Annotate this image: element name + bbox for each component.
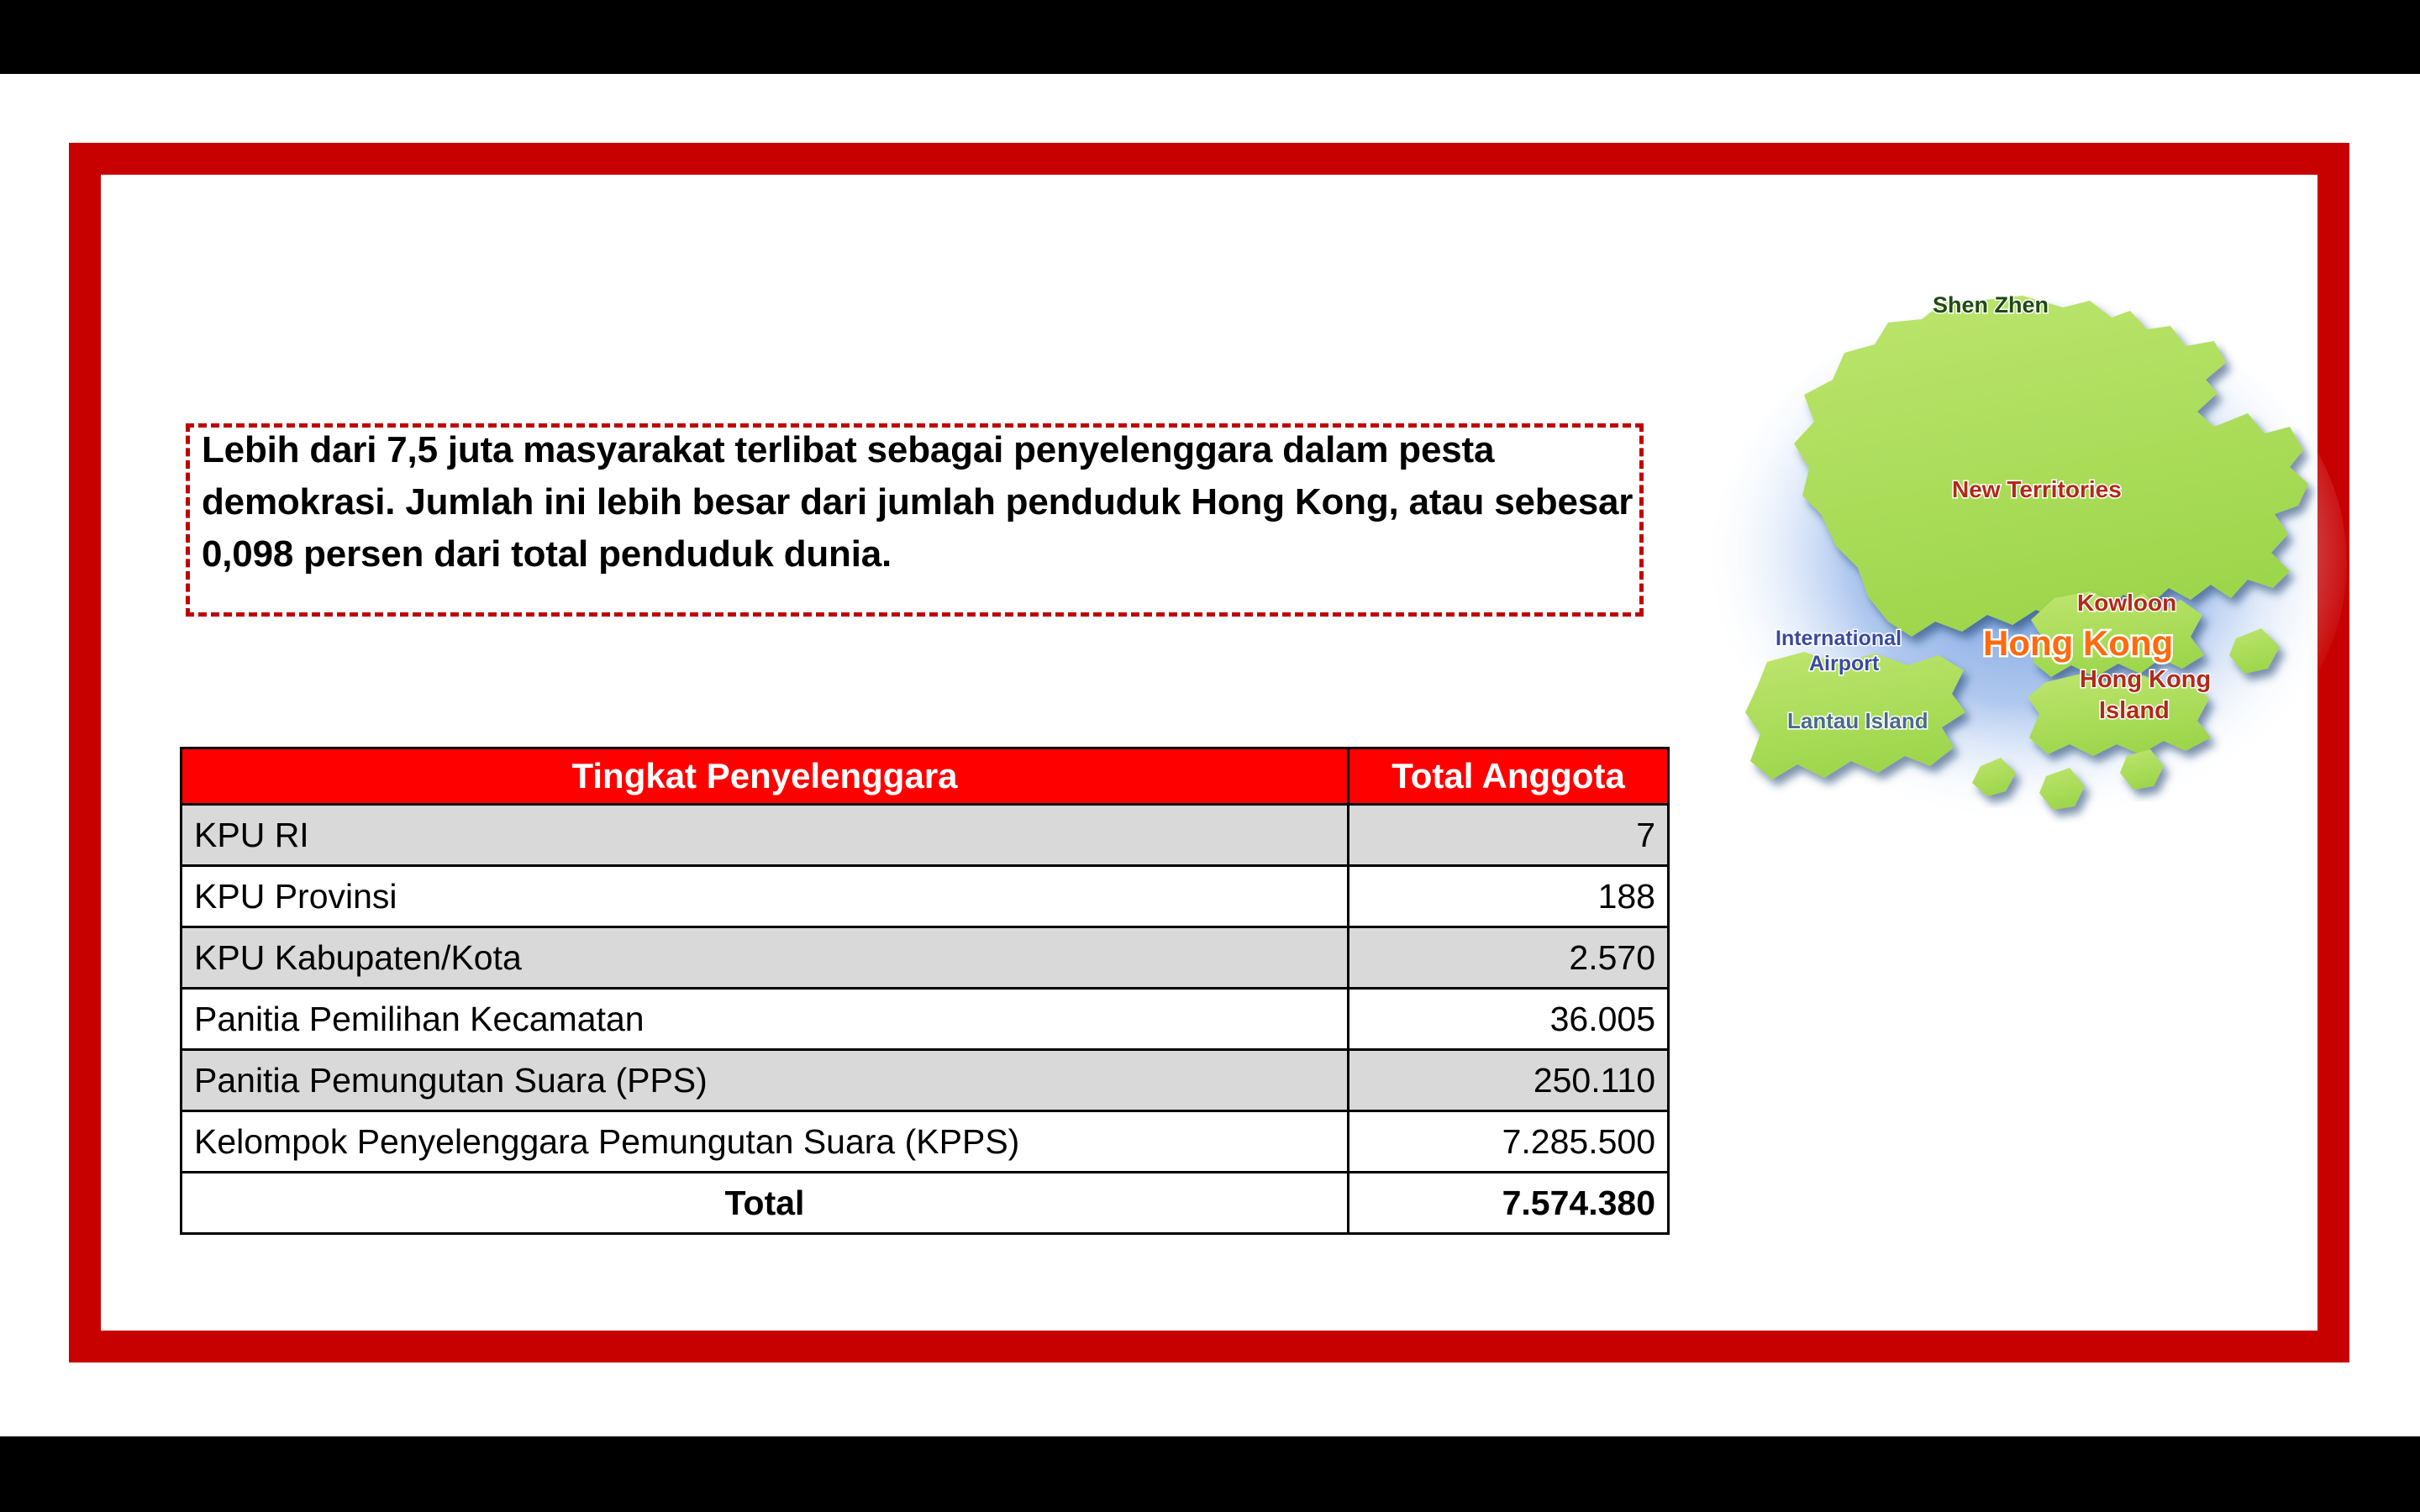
table-row: Panitia Pemungutan Suara (PPS) 250.110 xyxy=(181,1050,1669,1111)
table-row: KPU RI 7 xyxy=(181,805,1669,866)
column-header-total: Total Anggota xyxy=(1349,748,1669,805)
row-value: 188 xyxy=(1349,866,1669,927)
map-label-kowloon: Kowloon xyxy=(2077,590,2176,616)
red-slide-frame: Lebih dari 7,5 juta masyarakat terlibat … xyxy=(69,143,2349,1362)
column-header-tingkat: Tingkat Penyelenggara xyxy=(181,748,1349,805)
row-value: 7.285.500 xyxy=(1349,1111,1669,1173)
penyelenggara-table: Tingkat Penyelenggara Total Anggota KPU … xyxy=(180,747,1670,1235)
table-total-row: Total 7.574.380 xyxy=(181,1173,1669,1234)
map-label-lantau-island: Lantau Island xyxy=(1787,708,1928,733)
slide-canvas: Lebih dari 7,5 juta masyarakat terlibat … xyxy=(0,74,2420,1436)
callout-box: Lebih dari 7,5 juta masyarakat terlibat … xyxy=(186,423,1644,617)
table-row: Kelompok Penyelenggara Pemungutan Suara … xyxy=(181,1111,1669,1173)
row-label: Panitia Pemungutan Suara (PPS) xyxy=(181,1050,1349,1111)
total-label: Total xyxy=(181,1173,1349,1234)
table-row: KPU Kabupaten/Kota 2.570 xyxy=(181,927,1669,989)
map-label-international-airport-line1: International xyxy=(1776,627,1902,650)
map-label-hong-kong: Hong Kong xyxy=(1983,623,2173,663)
row-value: 2.570 xyxy=(1349,927,1669,989)
total-value: 7.574.380 xyxy=(1349,1173,1669,1234)
row-label: Panitia Pemilihan Kecamatan xyxy=(181,989,1349,1050)
hong-kong-map: Shen Zhen New Territories Kowloon Hong K… xyxy=(1710,286,2349,840)
slide-stage: Lebih dari 7,5 juta masyarakat terlibat … xyxy=(0,0,2420,1512)
row-label: KPU Kabupaten/Kota xyxy=(181,927,1349,989)
callout-text: Lebih dari 7,5 juta masyarakat terlibat … xyxy=(202,424,1640,580)
table-row: KPU Provinsi 188 xyxy=(181,866,1669,927)
row-value: 250.110 xyxy=(1349,1050,1669,1111)
row-value: 7 xyxy=(1349,805,1669,866)
map-label-shen-zhen: Shen Zhen xyxy=(1933,292,2049,318)
row-value: 36.005 xyxy=(1349,989,1669,1050)
table-row: Panitia Pemilihan Kecamatan 36.005 xyxy=(181,989,1669,1050)
row-label: KPU Provinsi xyxy=(181,866,1349,927)
map-label-international-airport-line2: Airport xyxy=(1809,652,1880,675)
map-label-new-territories: New Territories xyxy=(1952,476,2122,502)
row-label: Kelompok Penyelenggara Pemungutan Suara … xyxy=(181,1111,1349,1173)
map-label-hong-kong-island-line2: Island xyxy=(2099,697,2170,724)
table-header-row: Tingkat Penyelenggara Total Anggota xyxy=(181,748,1669,805)
map-label-hong-kong-island-line1: Hong Kong xyxy=(2080,666,2211,693)
map-land-new-territories xyxy=(1794,296,2308,637)
row-label: KPU RI xyxy=(181,805,1349,866)
